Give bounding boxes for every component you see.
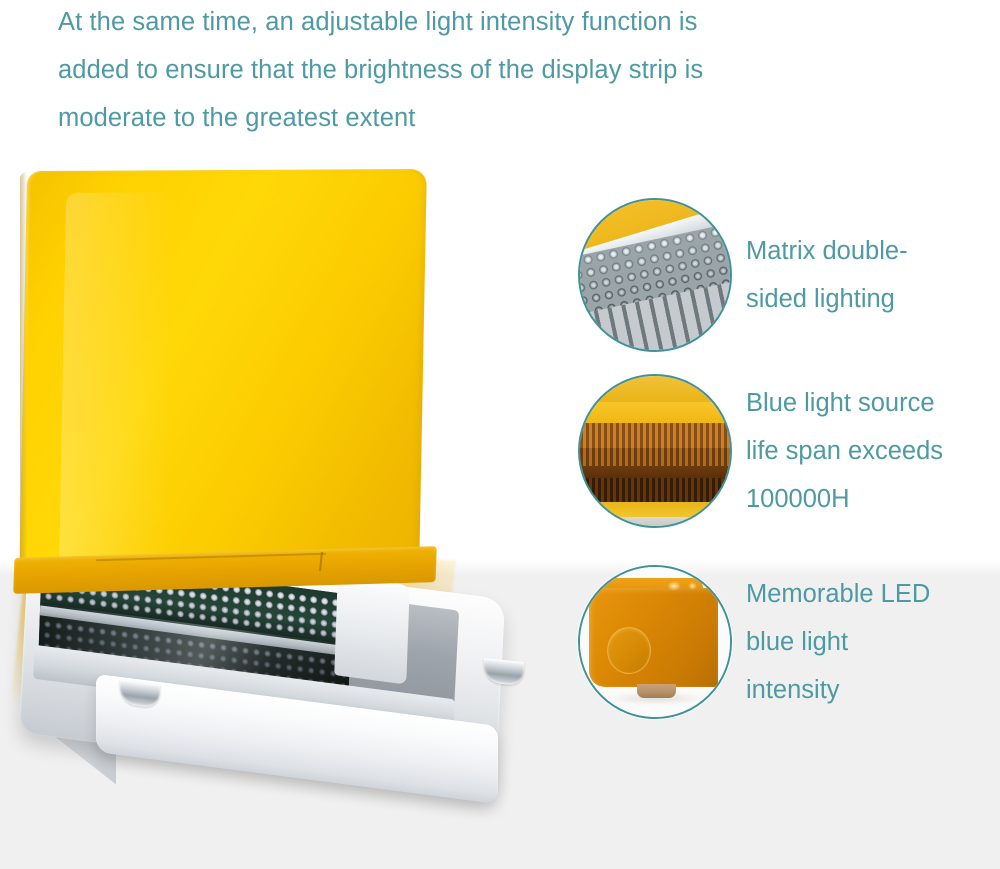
thumb-band-led-row-lower (578, 478, 732, 502)
shield-gloss-highlight (59, 192, 176, 569)
thumb-led-strip-bands (580, 376, 730, 526)
thumb-band-led-row-mid (578, 448, 732, 466)
feature-label-led-intensity: Memorable LED blue light intensity (746, 570, 930, 714)
matrix-lighting-thumbnail (578, 198, 732, 352)
thumb-device-shadow (604, 693, 709, 704)
thumb-device-body (589, 588, 718, 687)
thumb-specular-highlight-2 (688, 582, 697, 590)
thumb-band-yellow-bottom (578, 502, 732, 517)
product-photo (0, 160, 560, 840)
thumb-band-base-edge (578, 517, 732, 526)
feature-callout-led-lifespan: Blue light source life span exceeds 1000… (578, 374, 943, 528)
thumb-band-led-row-upper (578, 423, 732, 449)
led-lifespan-thumbnail (578, 374, 732, 528)
thumb-specular-highlight-1 (667, 581, 681, 592)
headline-text: At the same time, an adjustable light in… (58, 0, 848, 142)
feature-callout-matrix-lighting: Matrix double- sided lighting (578, 198, 908, 352)
feature-label-matrix-lighting: Matrix double- sided lighting (746, 227, 908, 323)
led-window-right-cap (334, 575, 409, 684)
feature-callout-led-intensity: Memorable LED blue light intensity (578, 565, 930, 719)
product-feature-infographic: At the same time, an adjustable light in… (0, 0, 1000, 869)
amber-shield-panel (19, 169, 426, 571)
led-intensity-thumbnail (578, 565, 732, 719)
thumb-band-yellow-top (578, 376, 732, 402)
feature-label-led-lifespan: Blue light source life span exceeds 1000… (746, 379, 943, 523)
thumb-device-corner (580, 567, 730, 717)
thumb-band-yellow-bright (578, 402, 732, 423)
thumb-band-dark-gap (578, 466, 732, 478)
thumb-device-button (607, 627, 651, 674)
shield-left-edge (20, 172, 27, 568)
